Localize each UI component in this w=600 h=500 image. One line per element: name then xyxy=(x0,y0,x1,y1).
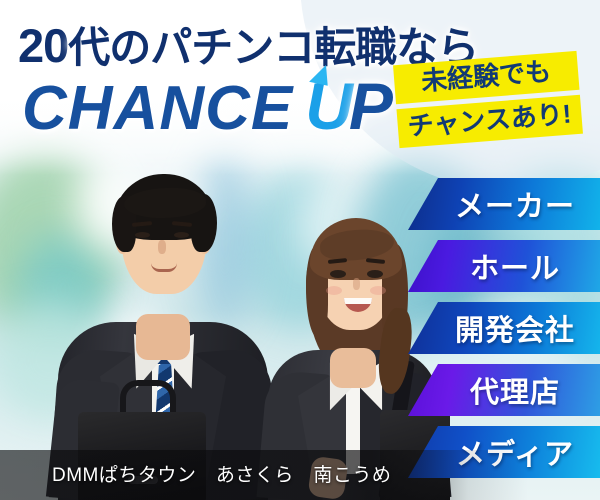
ad-banner[interactable]: 20代のパチンコ転職なら CHANCEUP 未経験でも チャンスあり! メーカー… xyxy=(0,0,600,500)
menu-item-label: メーカー xyxy=(455,183,575,225)
logo-p-letter: P xyxy=(349,69,393,143)
menu-item-label: ホール xyxy=(470,245,560,287)
category-menu: メーカー ホール 開発会社 代理店 メディア xyxy=(408,178,600,488)
menu-item-hall[interactable]: ホール xyxy=(408,240,600,292)
menu-item-label: 開発会社 xyxy=(455,307,575,349)
logo-up-wrap: UP xyxy=(305,68,393,144)
logo-chance-up: CHANCEUP xyxy=(22,68,393,144)
menu-item-agency[interactable]: 代理店 xyxy=(408,364,600,416)
headline-number: 20 xyxy=(18,19,68,72)
menu-item-developer[interactable]: 開発会社 xyxy=(408,302,600,354)
promo-badge: 未経験でも チャンスあり! xyxy=(393,51,583,148)
caption-text: DMMぱちタウン あさくら 南こうめ xyxy=(52,460,391,487)
menu-item-label: 代理店 xyxy=(470,369,560,411)
menu-item-maker[interactable]: メーカー xyxy=(408,178,600,230)
logo-chance-text: CHANCE xyxy=(22,74,293,143)
